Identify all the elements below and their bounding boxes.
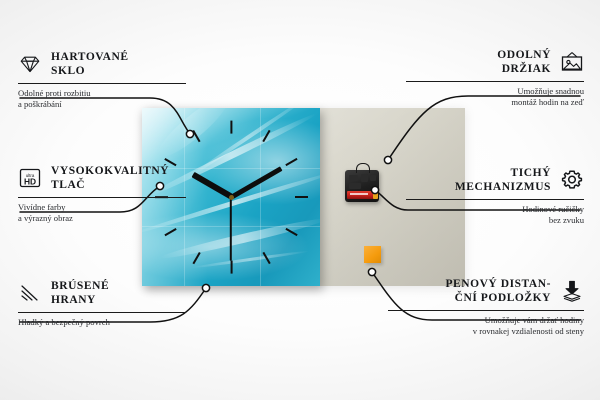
feature-ground-edges: BRÚSENÉ HRANY Hladký a bezpečný povrch — [18, 279, 186, 328]
feature-subtitle-line: v rovnakej vzdialenosti od steny — [388, 326, 584, 337]
divider — [388, 310, 584, 311]
feature-subtitle-line: Hladký a bezpečný povrch — [18, 317, 186, 328]
clock-hub — [229, 195, 234, 200]
feature-subtitle-line: bez zvuku — [406, 215, 584, 226]
gear-icon — [560, 168, 584, 192]
feature-title-line: TLAČ — [51, 178, 169, 192]
divider — [18, 312, 186, 313]
feature-subtitle: Hodinové ručičky bez zvuku — [406, 204, 584, 226]
feature-subtitle-line: a poškrábání — [18, 99, 186, 110]
feature-subtitle-line: Hodinové ručičky — [406, 204, 584, 215]
feature-header: HARTOVANÉ SKLO — [18, 50, 186, 78]
battery-label — [350, 193, 368, 195]
feature-title-line: VYSOKOKVALITNÝ — [51, 164, 169, 178]
feature-durable-holder: ODOLNÝ DRŽIAK Umožňuje snadnou montáž ho… — [406, 48, 584, 108]
ultra-hd-icon: ultra HD — [18, 166, 42, 190]
feature-title-line: DRŽIAK — [502, 62, 551, 76]
feature-subtitle: Hladký a bezpečný povrch — [18, 317, 186, 328]
feature-title: ODOLNÝ DRŽIAK — [497, 48, 551, 76]
feature-title-line: ODOLNÝ — [497, 48, 551, 62]
ultra-hd-icon-large-text: HD — [24, 176, 36, 186]
feature-subtitle: Umožňuje snadnou montáž hodin na zeď — [406, 86, 584, 108]
feature-subtitle-line: Umožňuje snadnou — [406, 86, 584, 97]
feature-tempered-glass: HARTOVANÉ SKLO Odolné proti rozbitiu a p… — [18, 50, 186, 110]
feature-title: TICHÝ MECHANIZMUS — [455, 166, 551, 194]
feature-header: PENOVÝ DISTAN- ČNÍ PODLOŽKY — [388, 277, 584, 305]
clock-tick — [230, 120, 232, 133]
feature-title-line: BRÚSENÉ — [51, 279, 109, 293]
divider — [406, 199, 584, 200]
infographic-canvas: HARTOVANÉ SKLO Odolné proti rozbitiu a p… — [0, 0, 600, 400]
mechanism-detail — [361, 174, 368, 182]
divider — [406, 81, 584, 82]
feature-high-quality-print: ultra HD VYSOKOKVALITNÝ TLAČ Vivídne far… — [18, 164, 186, 224]
feature-title: PENOVÝ DISTAN- ČNÍ PODLOŽKY — [445, 277, 551, 305]
divider — [18, 197, 186, 198]
feature-title-line: HRANY — [51, 293, 109, 307]
foam-spacer — [364, 246, 381, 263]
feature-foam-spacers: PENOVÝ DISTAN- ČNÍ PODLOŽKY Umožňuje vám… — [388, 277, 584, 337]
feature-header: TICHÝ MECHANIZMUS — [406, 166, 584, 194]
feature-subtitle: Odolné proti rozbitiu a poškrábání — [18, 88, 186, 110]
divider — [18, 83, 186, 84]
feature-title-line: TICHÝ — [511, 166, 551, 180]
diamond-icon — [18, 52, 42, 76]
feature-header: ODOLNÝ DRŽIAK — [406, 48, 584, 76]
mechanism-detail — [349, 175, 358, 181]
mechanism-detail — [370, 175, 376, 181]
feature-silent-mechanism: TICHÝ MECHANIZMUS Hodinové ručičky bez z… — [406, 166, 584, 226]
glass-reflection-line — [260, 108, 261, 286]
clock-tick — [230, 260, 232, 273]
feature-subtitle-line: Odolné proti rozbitiu — [18, 88, 186, 99]
feature-subtitle-line: a výrazný obraz — [18, 213, 186, 224]
feature-header: BRÚSENÉ HRANY — [18, 279, 186, 307]
feature-subtitle: Vivídne farby a výrazný obraz — [18, 202, 186, 224]
ground-edges-icon — [18, 281, 42, 305]
feature-subtitle-line: Umožňuje vám držať hodiny — [388, 315, 584, 326]
feature-title-line: SKLO — [51, 64, 129, 78]
feature-subtitle-line: montáž hodin na zeď — [406, 97, 584, 108]
second-hand — [230, 197, 232, 261]
feature-title-line: PENOVÝ DISTAN- — [445, 277, 551, 291]
feature-subtitle-line: Vivídne farby — [18, 202, 186, 213]
foam-pad-icon — [560, 279, 584, 303]
feature-title: HARTOVANÉ SKLO — [51, 50, 129, 78]
wall-mount-icon — [560, 50, 584, 74]
feature-header: ultra HD VYSOKOKVALITNÝ TLAČ — [18, 164, 186, 192]
feature-subtitle: Umožňuje vám držať hodiny v rovnakej vzd… — [388, 315, 584, 337]
clock-mechanism — [345, 170, 379, 202]
battery — [347, 191, 377, 199]
feature-title-line: ČNÍ PODLOŽKY — [455, 291, 551, 305]
feature-title: BRÚSENÉ HRANY — [51, 279, 109, 307]
feature-title-line: HARTOVANÉ — [51, 50, 129, 64]
feature-title-line: MECHANIZMUS — [455, 180, 551, 194]
clock-tick — [295, 196, 308, 198]
feature-title: VYSOKOKVALITNÝ TLAČ — [51, 164, 169, 192]
mechanism-detail — [349, 183, 361, 189]
